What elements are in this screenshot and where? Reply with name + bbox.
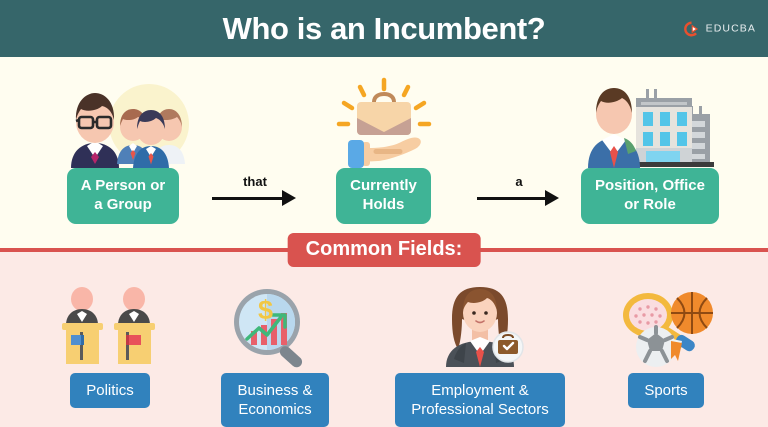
arrow-head-icon [282,190,296,206]
flow-node-person-or-group: A Person or a Group [43,76,203,224]
connector-label: that [243,174,267,189]
field-card-sports[interactable]: Sports [596,283,736,408]
arrow-right-icon [477,197,547,200]
infographic-root: Who is an Incumbent? EDUCBA [0,0,768,427]
flow-connector-a: a [477,176,561,210]
person-and-group-icon [53,76,193,168]
flow-node-currently-holds: Currently Holds [306,76,461,224]
flow-connector-that: that [212,176,298,210]
educba-logo: EDUCBA [682,19,756,38]
businesswoman-briefcase-icon [430,283,530,367]
field-card-label: Business & Economics [221,373,328,427]
hand-holding-briefcase-icon [324,76,444,168]
page-title: Who is an Incumbent? [223,11,546,47]
educba-logo-text: EDUCBA [706,23,756,35]
field-card-label: Sports [628,373,703,408]
field-card-employment-professional[interactable]: Employment & Professional Sectors [378,283,582,427]
flow-node-position-office-role: Position, Office or Role [570,76,730,224]
flow-node-label: A Person or a Group [67,168,179,224]
field-card-label: Employment & Professional Sectors [395,373,565,427]
flow-node-label: Currently Holds [336,168,431,224]
arrow-right-icon [212,197,284,200]
header-bar: Who is an Incumbent? EDUCBA [0,0,768,57]
magnifier-growth-chart-icon: $ [225,283,325,367]
arrow-head-icon [545,190,559,206]
businessman-office-building-icon [584,76,716,168]
educba-logo-mark-icon [682,19,701,38]
field-card-business-economics[interactable]: $ Business & Economics [200,283,350,427]
flow-node-label: Position, Office or Role [581,168,719,224]
field-card-label: Politics [70,373,150,408]
field-card-politics[interactable]: Politics [30,283,190,408]
connector-label: a [515,174,522,189]
debate-podiums-icon [56,283,164,367]
svg-text:$: $ [258,295,273,325]
common-fields-banner: Common Fields: [288,233,481,267]
sports-equipment-icon [614,283,718,367]
